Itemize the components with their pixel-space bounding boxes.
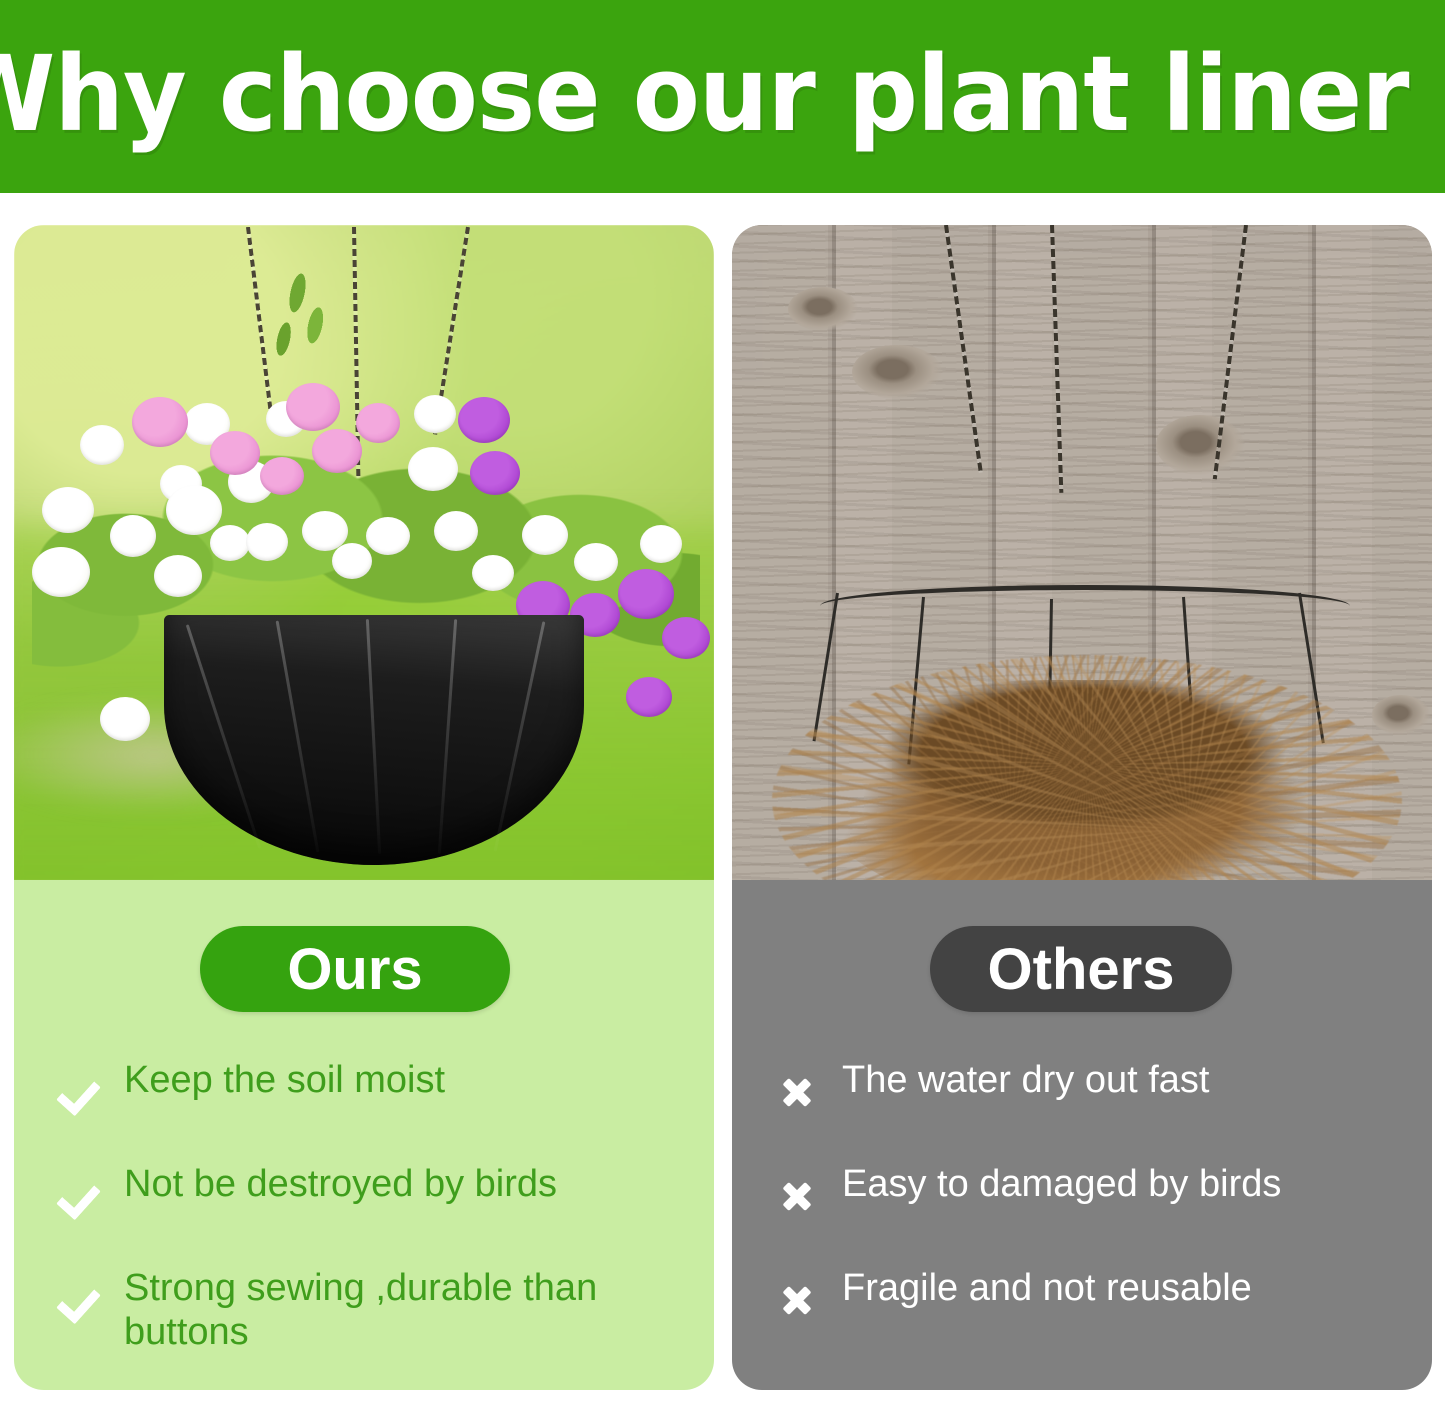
others-product-photo <box>732 225 1432 880</box>
white-bloom <box>166 485 222 535</box>
purple-bloom <box>662 617 710 659</box>
check-icon <box>50 1268 108 1332</box>
list-item: The water dry out fast <box>768 1058 1408 1124</box>
white-bloom <box>522 515 568 555</box>
white-bloom <box>332 543 372 579</box>
white-bloom <box>100 697 150 741</box>
purple-bloom <box>618 569 674 619</box>
comparison-column-others: Others The water dry out fast Easy to da… <box>732 225 1432 1390</box>
white-bloom <box>640 525 682 563</box>
pink-bloom <box>260 457 304 495</box>
ours-badge: Ours <box>200 926 510 1012</box>
ours-info-panel: Ours Keep the soil moist Not be destroye… <box>14 880 714 1390</box>
comparison-section: Ours Keep the soil moist Not be destroye… <box>0 193 1445 1406</box>
list-item: Not be destroyed by birds <box>50 1162 690 1228</box>
list-item-label: Strong sewing ,durable than buttons <box>124 1266 690 1354</box>
wood-knot <box>788 287 858 331</box>
basket-rib <box>276 621 320 853</box>
check-icon <box>50 1060 108 1124</box>
pink-bloom <box>132 397 188 447</box>
purple-bloom <box>458 397 510 443</box>
wood-knot <box>852 345 942 399</box>
cross-icon <box>768 1060 826 1124</box>
white-bloom <box>434 511 478 551</box>
page-title: Why choose our plant liner ? <box>0 42 1445 152</box>
white-bloom <box>408 447 458 491</box>
pink-bloom <box>286 383 340 431</box>
basket-rib <box>366 619 381 854</box>
white-bloom <box>472 555 514 591</box>
header-banner: Why choose our plant liner ? <box>0 0 1445 193</box>
white-bloom <box>32 547 90 597</box>
list-item: Fragile and not reusable <box>768 1266 1408 1332</box>
white-bloom <box>110 515 156 557</box>
wood-knot <box>1156 415 1244 475</box>
list-item-label: Fragile and not reusable <box>842 1266 1252 1310</box>
basket-rib <box>438 619 457 854</box>
white-bloom <box>246 523 288 561</box>
list-item: Keep the soil moist <box>50 1058 690 1124</box>
white-bloom <box>574 543 618 581</box>
white-bloom <box>414 395 456 433</box>
cross-icon <box>768 1268 826 1332</box>
white-bloom <box>80 425 124 465</box>
pink-bloom <box>356 403 400 443</box>
cross-icon <box>768 1164 826 1228</box>
list-item: Easy to damaged by birds <box>768 1162 1408 1228</box>
list-item-label: The water dry out fast <box>842 1058 1210 1102</box>
list-item-label: Not be destroyed by birds <box>124 1162 557 1206</box>
others-drawback-list: The water dry out fast Easy to damaged b… <box>768 1058 1408 1370</box>
wood-knot <box>1372 695 1430 735</box>
purple-bloom <box>470 451 520 495</box>
list-item-label: Keep the soil moist <box>124 1058 445 1102</box>
others-info-panel: Others The water dry out fast Easy to da… <box>732 880 1432 1390</box>
check-icon <box>50 1164 108 1228</box>
white-bloom <box>210 525 250 561</box>
ours-benefit-list: Keep the soil moist Not be destroyed by … <box>50 1058 690 1392</box>
white-bloom <box>366 517 410 555</box>
others-badge: Others <box>930 926 1232 1012</box>
white-bloom <box>154 555 202 597</box>
white-bloom <box>42 487 94 533</box>
comparison-column-ours: Ours Keep the soil moist Not be destroye… <box>14 225 714 1390</box>
ours-product-photo <box>14 225 714 880</box>
list-item: Strong sewing ,durable than buttons <box>50 1266 690 1354</box>
purple-bloom <box>626 677 672 717</box>
list-item-label: Easy to damaged by birds <box>842 1162 1281 1206</box>
pink-bloom <box>210 431 260 475</box>
pink-bloom <box>312 429 362 473</box>
